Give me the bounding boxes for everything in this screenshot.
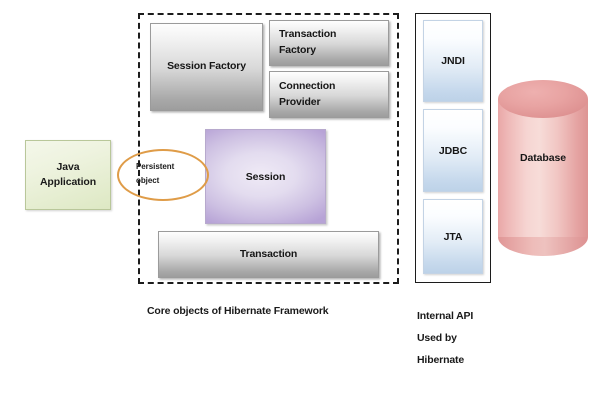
session-box: Session	[205, 129, 326, 224]
connection-provider-line1: Connection	[279, 80, 335, 92]
java-application-line1: Java	[57, 161, 80, 173]
java-application-label: Java Application	[40, 160, 96, 190]
internal-api-caption-line3: Hibernate	[417, 354, 464, 366]
core-objects-caption: Core objects of Hibernate Framework	[147, 305, 328, 317]
persistent-object-line2: object	[136, 176, 159, 185]
transaction-factory-label: Transaction Factory	[270, 27, 336, 59]
jta-box: JTA	[423, 199, 483, 274]
session-label: Session	[246, 171, 286, 183]
cylinder-top-ellipse	[498, 80, 588, 118]
jta-label: JTA	[444, 231, 463, 243]
session-factory-label: Session Factory	[167, 59, 246, 75]
internal-api-caption: Internal API Used by Hibernate	[417, 305, 473, 371]
database-cylinder: Database	[498, 80, 588, 255]
transaction-label: Transaction	[240, 247, 297, 263]
session-factory-box: Session Factory	[150, 23, 263, 111]
transaction-factory-box: Transaction Factory	[269, 20, 389, 66]
transaction-box: Transaction	[158, 231, 379, 278]
connection-provider-line2: Provider	[279, 96, 320, 108]
persistent-object-line1: Persistent	[136, 162, 174, 171]
jdbc-label: JDBC	[439, 145, 467, 157]
java-application-line2: Application	[40, 176, 96, 188]
internal-api-caption-line1: Internal API	[417, 310, 473, 322]
jdbc-box: JDBC	[423, 109, 483, 192]
internal-api-caption-line2: Used by	[417, 332, 457, 344]
database-label: Database	[498, 152, 588, 164]
hibernate-architecture-diagram: Java Application Session Factory Transac…	[0, 0, 603, 420]
persistent-object-ellipse: Persistent object	[117, 149, 209, 201]
java-application-box: Java Application	[25, 140, 111, 210]
transaction-factory-line1: Transaction	[279, 28, 336, 40]
connection-provider-label: Connection Provider	[270, 79, 335, 111]
jndi-label: JNDI	[441, 55, 465, 67]
cylinder-body	[498, 99, 588, 237]
persistent-object-label: Persistent object	[136, 160, 206, 188]
transaction-factory-line2: Factory	[279, 44, 316, 56]
connection-provider-box: Connection Provider	[269, 71, 389, 118]
jndi-box: JNDI	[423, 20, 483, 102]
